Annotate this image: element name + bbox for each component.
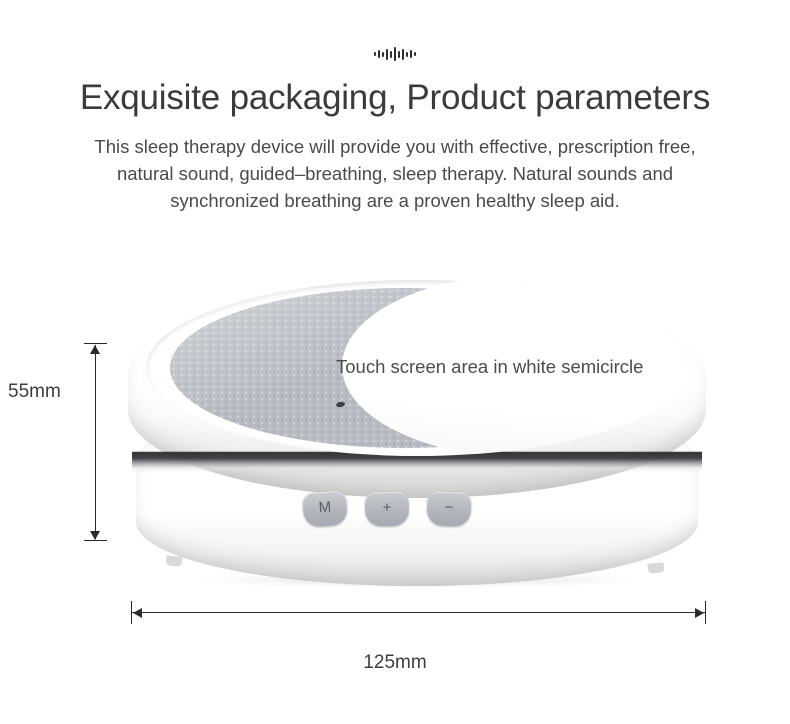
width-cap-right xyxy=(705,601,706,624)
page-title: Exquisite packaging, Product parameters xyxy=(0,76,790,120)
wave-bar xyxy=(406,52,408,57)
width-line xyxy=(132,612,705,613)
description-line-3: synchronized breathing are a proven heal… xyxy=(45,187,745,214)
description-line-1: This sleep therapy device will provide y… xyxy=(45,133,745,160)
wave-bar xyxy=(410,50,412,58)
wave-bar xyxy=(374,52,376,56)
height-line xyxy=(95,345,96,539)
description-line-2: natural sound, guided–breathing, sleep t… xyxy=(45,160,745,187)
wave-bar xyxy=(414,52,416,56)
height-cap-top xyxy=(84,343,107,344)
wave-bar xyxy=(394,47,396,61)
sound-wave-icon xyxy=(0,40,790,68)
volume-up-button[interactable]: + xyxy=(365,492,410,527)
width-arrow-right-icon xyxy=(695,608,704,618)
wave-bar xyxy=(402,49,404,60)
device-foot-left xyxy=(166,555,183,567)
wave-bar xyxy=(386,49,388,60)
width-label: 125mm xyxy=(0,652,790,674)
wave-bar xyxy=(378,50,380,58)
page-description: This sleep therapy device will provide y… xyxy=(45,133,745,214)
device-button-row: M + − xyxy=(303,492,543,534)
height-label: 55mm xyxy=(8,381,80,403)
volume-down-button[interactable]: − xyxy=(426,491,471,527)
wave-bar xyxy=(390,51,392,58)
width-arrow-left-icon xyxy=(133,608,142,618)
height-arrow-down-icon xyxy=(90,531,100,540)
mode-button[interactable]: M xyxy=(302,491,348,528)
device-foot-right xyxy=(648,562,665,574)
wave-bar xyxy=(382,52,384,57)
wave-bar xyxy=(398,51,400,58)
product-image: Touch screen area in white semicircle M … xyxy=(128,280,706,595)
height-cap-bottom xyxy=(84,540,107,541)
height-arrow-up-icon xyxy=(90,345,100,354)
touch-screen-caption: Touch screen area in white semicircle xyxy=(336,356,643,378)
